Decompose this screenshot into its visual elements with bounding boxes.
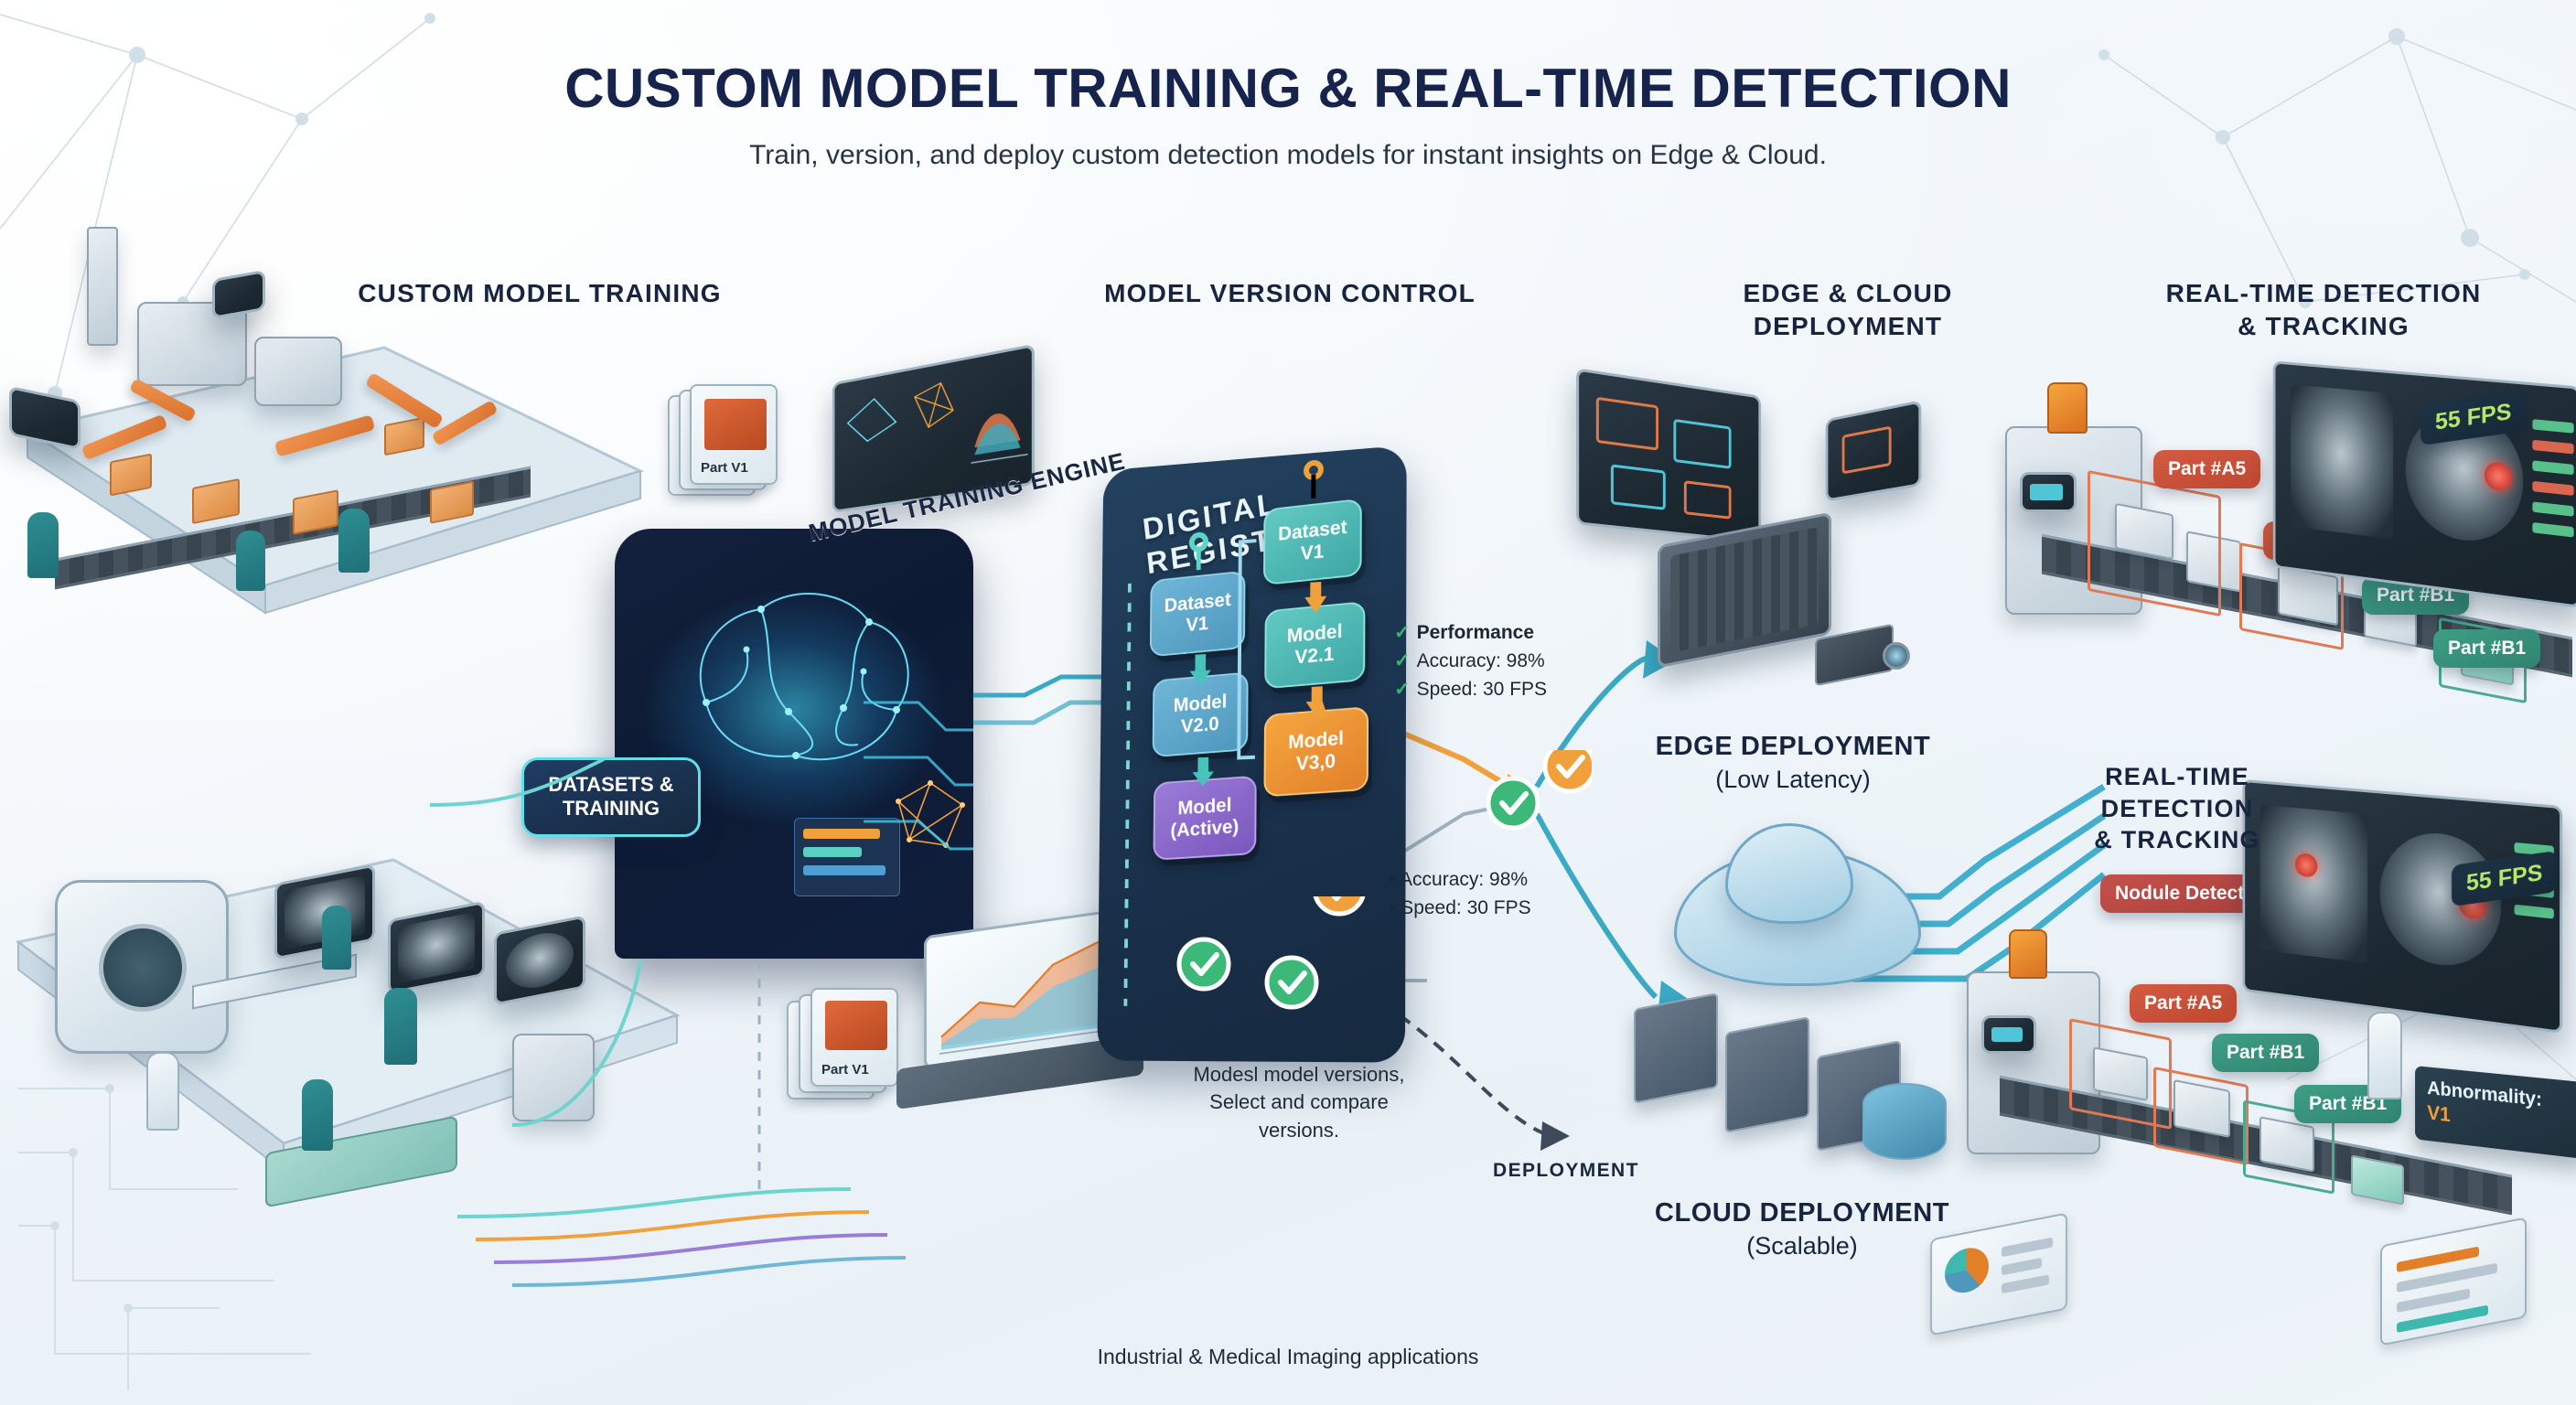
edge-deployment-label: EDGE DEPLOYMENT (Low Latency) [1592,732,1994,794]
performance-speed: Speed: 30 FPS [1417,679,1547,700]
deployment-flow-label: DEPLOYMENT [1493,1160,1639,1182]
performance-accuracy: Accuracy: 98% [1417,650,1545,671]
detection-display-top [2273,360,2576,608]
registry-caption-line2: Select and compare [1143,1089,1454,1116]
hmi-readout [1991,1027,2023,1042]
performance-heading: Performance [1417,622,1534,643]
fps-value: 55 FPS [2435,399,2511,435]
metric-bar [2532,419,2573,434]
detection-panel-label: REAL-TIME DETECTION & TRACKING [2040,761,2314,856]
secondary-speed: • Speed: 30 FPS [1389,894,1626,922]
fps-value: 55 FPS [2466,860,2542,896]
inspection-machine-hmi-bottom [1981,1015,2036,1054]
inspection-machine-hmi [2020,472,2077,512]
badge-part-a5-bottom: Part #A5 [2130,984,2237,1023]
report-line [2397,1289,2470,1314]
detection-label-line1: REAL-TIME [2040,761,2314,793]
badge-text: Part #A5 [2168,458,2246,479]
registry-caption: Modesl model versions, Select and compar… [1143,1061,1454,1144]
badge-text: Part #B1 [2448,638,2526,659]
report-line [2002,1258,2042,1276]
cloud-server-rack [1725,1016,1809,1133]
edge-monitor-screen [1576,368,1761,543]
registry-caption-line3: versions. [1143,1117,1454,1144]
doctor-figure [2367,1012,2402,1099]
secondary-accuracy: • Accuracy: 98% [1389,865,1626,894]
metric-bar [2532,440,2573,455]
badge-text: Part #A5 [2144,992,2222,1014]
detection-bbox-a5 [2088,470,2221,617]
cloud-database-cylinder [1862,1083,1947,1160]
report-line [2002,1238,2053,1258]
edge-deployment-title: EDGE DEPLOYMENT [1592,732,1994,762]
infographic-canvas: CUSTOM MODEL TRAINING & REAL-TIME DETECT… [0,0,2576,1405]
report-line [2002,1274,2049,1293]
inspection-machine-light-bottom [2009,929,2047,979]
edge-secondary-content [1828,402,1921,502]
metric-bar [2515,905,2554,919]
pipeline-checkpoint-merge [1464,750,1592,878]
cloud-deployment-title: CLOUD DEPLOYMENT [1592,1198,2012,1228]
detection-label-line2: DETECTION [2040,793,2314,825]
arrow-head-deployment [1540,1121,1570,1151]
detection-label-line3: & TRACKING [2040,824,2314,856]
edge-camera-lens [1883,642,1910,670]
badge-part-b1-bottom-1: Part #B1 [2212,1034,2319,1072]
chest-xray-top [2291,384,2393,539]
badge-text: Part #B1 [2227,1042,2304,1063]
check-icon: ✓ [1394,650,1411,671]
badge-part-b1-top-2: Part #B1 [2433,629,2540,668]
edge-deployment-sub: (Low Latency) [1592,766,1994,794]
inspection-machine-light [2047,382,2088,434]
footer-text: Industrial & Medical Imaging application… [1098,1345,1479,1368]
edge-monitor-content [1579,371,1761,543]
metric-bar [2532,501,2573,516]
badge-part-a5-top: Part #A5 [2153,450,2260,488]
performance-metrics-primary: ✓Performance ✓Accuracy: 98% ✓Speed: 30 F… [1394,618,1632,703]
metric-bar [2532,522,2573,538]
report-pie-chart [1945,1244,1989,1296]
performance-metrics-secondary: • Accuracy: 98% • Speed: 30 FPS [1389,865,1626,922]
hmi-readout [2030,484,2063,500]
check-icon: ✓ [1394,622,1411,643]
metric-bar [2532,481,2573,496]
footer-caption: Industrial & Medical Imaging application… [0,1345,2576,1369]
registry-caption-line1: Modesl model versions, [1143,1061,1454,1089]
metric-bar [2532,460,2573,475]
check-icon: ✓ [1394,679,1411,700]
cloud-server-rack [1634,992,1718,1104]
